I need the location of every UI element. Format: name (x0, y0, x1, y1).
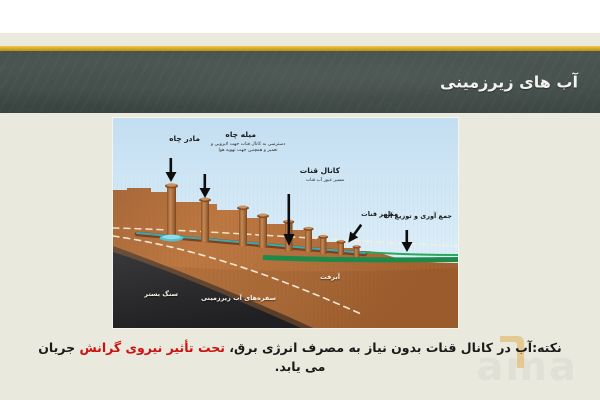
caption-highlight: تحت تأثیر نیروی گرانش (79, 340, 224, 355)
caption-part1: آب در کانال قنات بدون نیاز به مصرف انرژی… (225, 340, 532, 355)
slide-canvas: آب های زیرزمینی (0, 0, 600, 400)
qanat-diagram: مادر چاه میله چاه دسترسی به کانال قنات ج… (113, 118, 458, 328)
cream-strip (0, 33, 600, 47)
page-title: آب های زیرزمینی (440, 73, 578, 92)
top-white-strip (0, 0, 600, 33)
label-shaft-well-sub: دسترسی به کانال قنات جهت لایروبی و تعمیر… (206, 142, 290, 154)
label-qanat-channel-sub: مسیر عبور آب قنات (292, 178, 358, 184)
slide-header-band: آب های زیرزمینی (0, 51, 600, 113)
caption-lead: نکته: (532, 340, 562, 355)
slide-caption: نکته:آب در کانال قنات بدون نیاز به مصرف … (0, 338, 600, 377)
